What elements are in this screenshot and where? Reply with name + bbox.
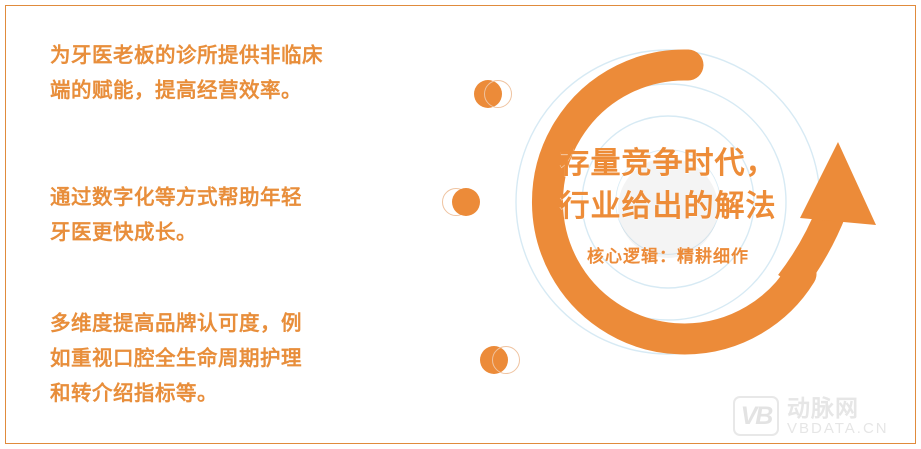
arrow-tail: [790, 210, 832, 284]
circular-arrow-cluster: 存量竞争时代， 行业给出的解法 核心逻辑：精耕细作: [485, 12, 915, 392]
bullet-list: 为牙医老板的诊所提供非临床 端的赋能，提高经营效率。 通过数字化等方式帮助年轻 …: [0, 0, 500, 449]
bullet-text: 为牙医老板的诊所提供非临床 端的赋能，提高经营效率。: [50, 38, 500, 108]
watermark-name-en: VBDATA.CN: [787, 420, 889, 437]
arrow-head: [800, 142, 876, 225]
watermark: VB 动脉网 VBDATA.CN: [733, 392, 913, 440]
list-item: 为牙医老板的诊所提供非临床 端的赋能，提高经营效率。: [50, 38, 500, 108]
list-item: 通过数字化等方式帮助年轻 牙医更快成长。: [50, 180, 500, 250]
watermark-badge: VB: [733, 396, 779, 436]
bullet-text: 通过数字化等方式帮助年轻 牙医更快成长。: [50, 180, 500, 250]
circular-arrow-icon: [485, 12, 915, 392]
bullet-text: 多维度提高品牌认可度，例 如重视口腔全生命周期护理 和转介绍指标等。: [50, 306, 500, 411]
list-item: 多维度提高品牌认可度，例 如重视口腔全生命周期护理 和转介绍指标等。: [50, 306, 500, 411]
watermark-name-cn: 动脉网: [787, 396, 889, 420]
double-circle-marker-icon: [442, 188, 484, 218]
infographic-canvas: 为牙医老板的诊所提供非临床 端的赋能，提高经营效率。 通过数字化等方式帮助年轻 …: [0, 0, 921, 449]
marker-solid-circle: [452, 188, 480, 216]
watermark-wordmark: 动脉网 VBDATA.CN: [787, 396, 889, 437]
